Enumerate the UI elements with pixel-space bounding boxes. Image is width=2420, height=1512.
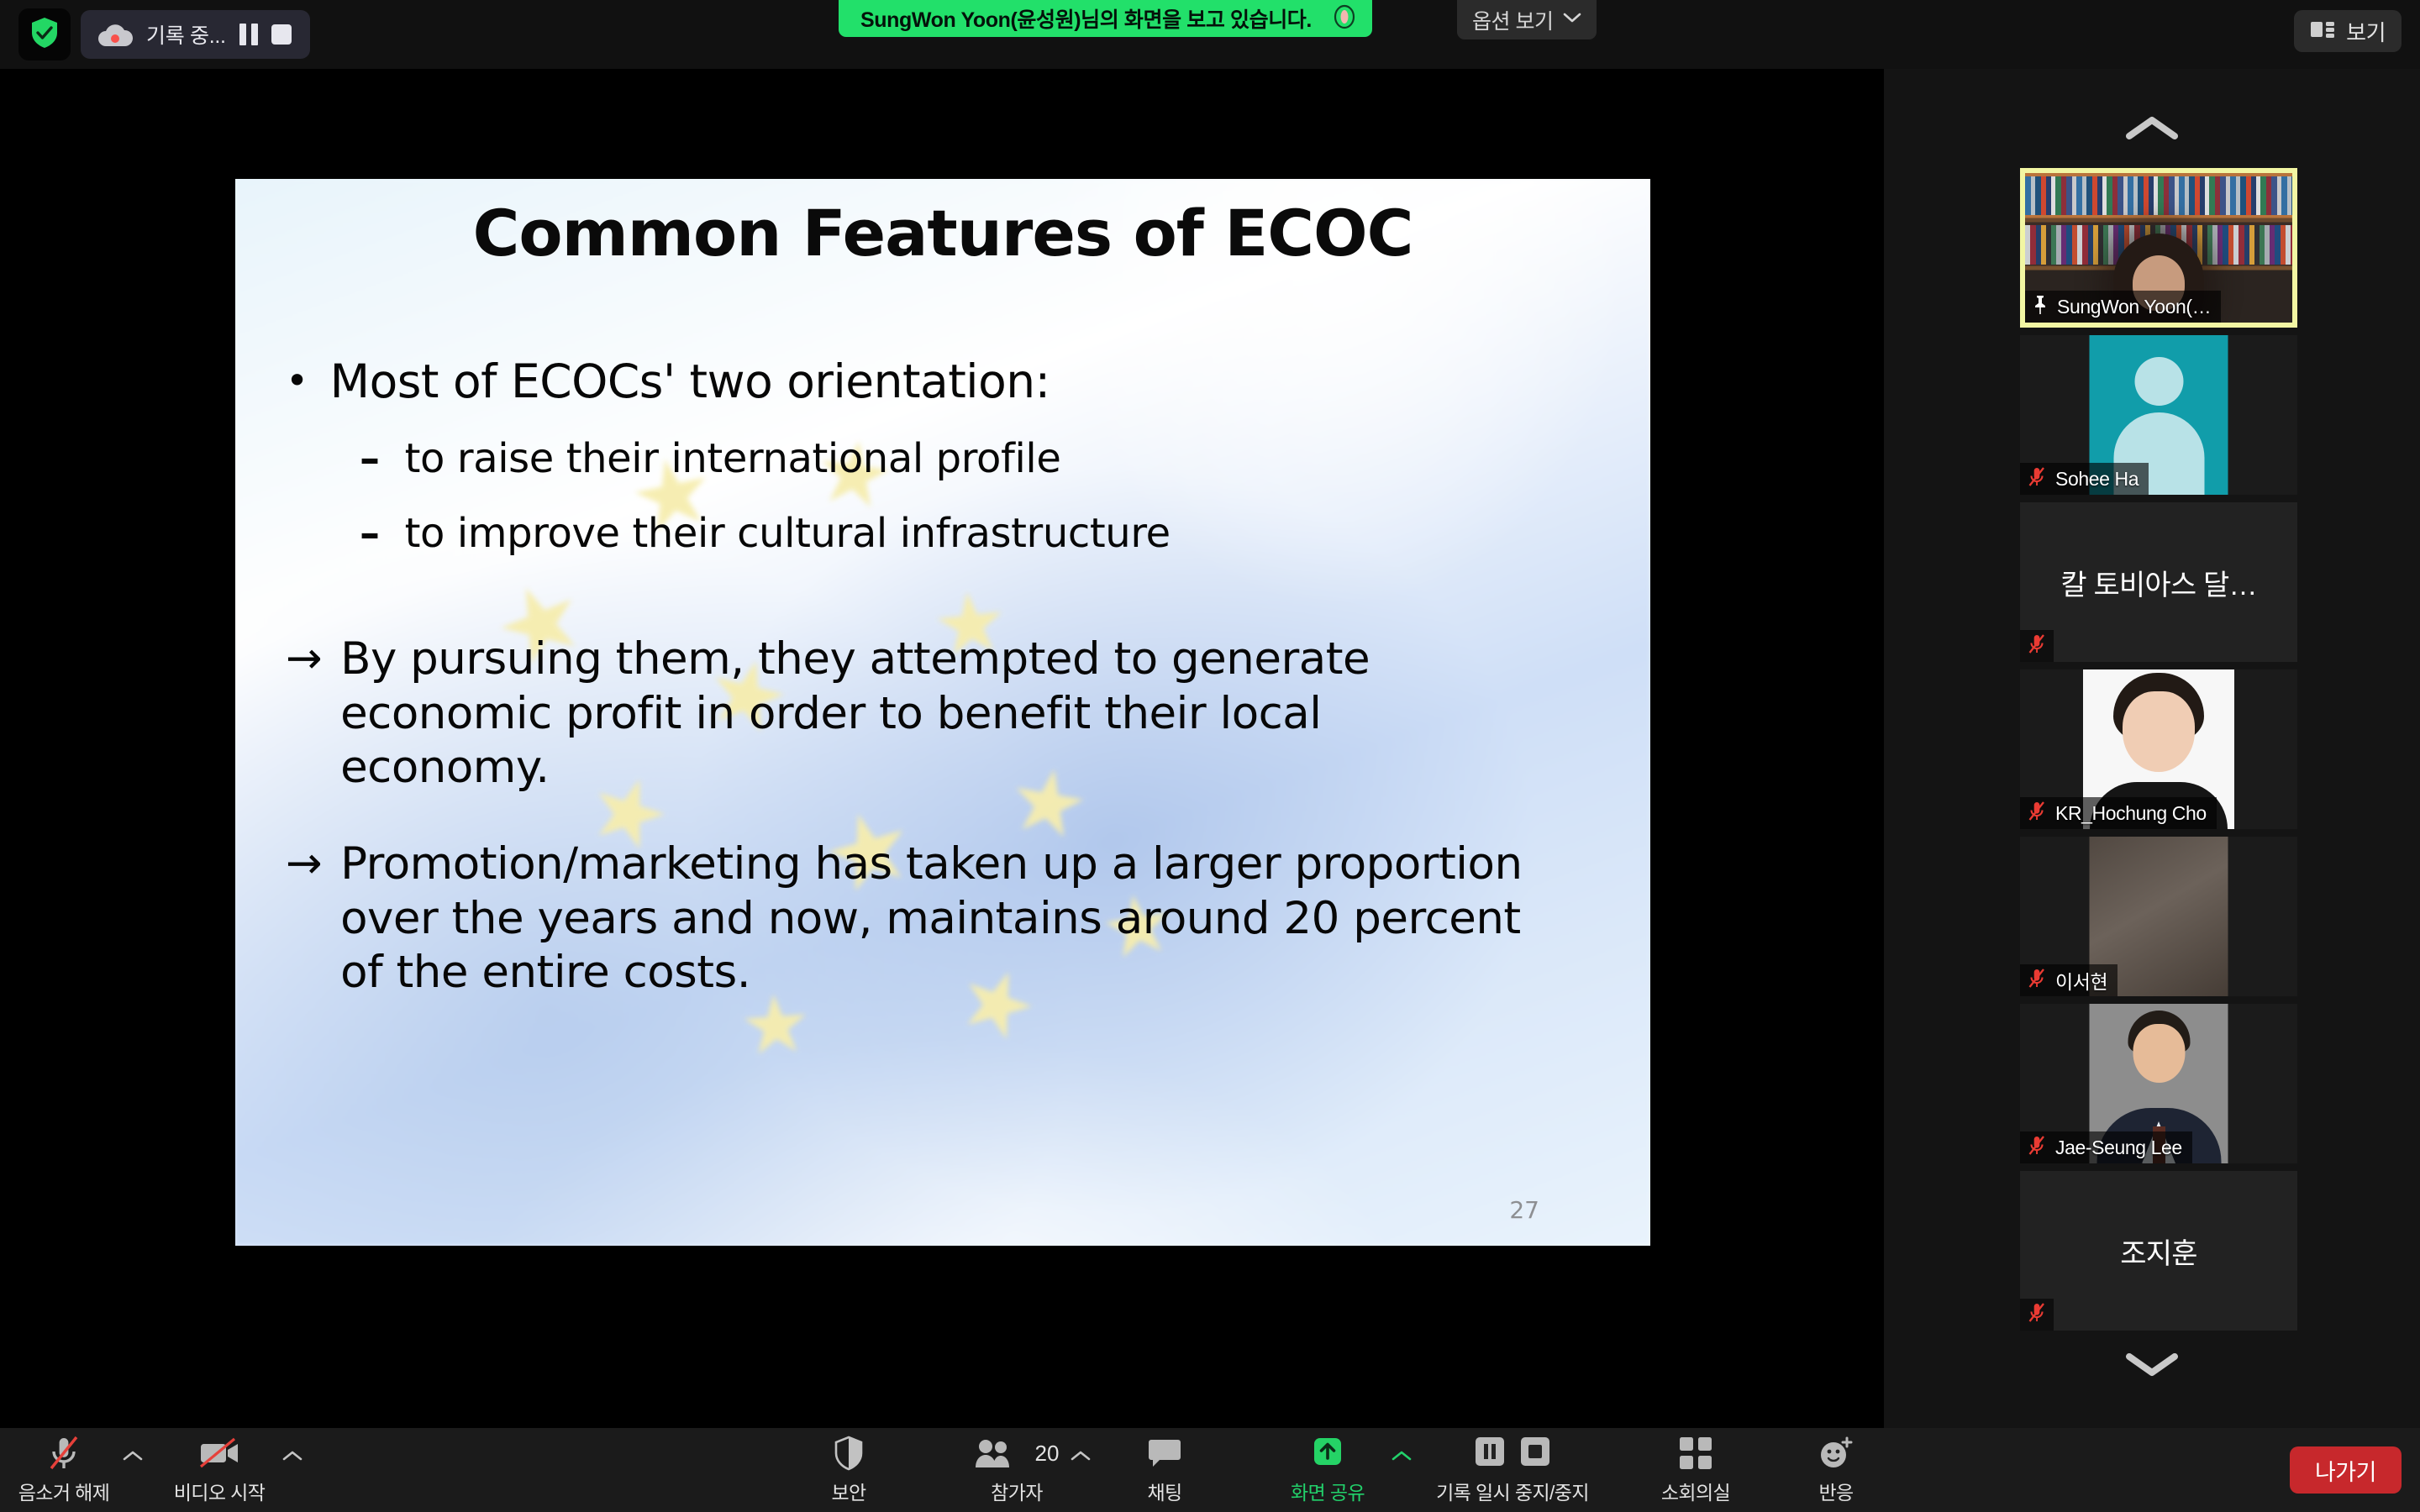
- participants-button-label: 참가자: [991, 1477, 1043, 1505]
- chevron-up-icon: [1391, 1450, 1412, 1466]
- stop-icon[interactable]: [271, 24, 292, 45]
- mic-muted-icon: [2027, 1302, 2047, 1328]
- participant-filmstrip: SungWon Yoon(… Sohee Ha: [1884, 69, 2420, 1428]
- participant-name-badge: 이서현: [2020, 964, 2117, 996]
- shield-check-icon: [30, 17, 59, 53]
- participant-name: 이서현: [2055, 966, 2107, 995]
- slide-arrow-paragraph-text: Promotion/marketing has taken up a large…: [340, 837, 1534, 1000]
- participants-options-caret[interactable]: [1067, 1450, 1094, 1512]
- share-screen-button[interactable]: 화면 공유: [1274, 1435, 1381, 1509]
- participant-name: Sohee Ha: [2055, 468, 2139, 491]
- chat-button[interactable]: 채팅: [1128, 1435, 1202, 1509]
- slide-body: • Most of ECOCs' two orientation: – to r…: [286, 357, 1600, 1000]
- chevron-down-icon: [2126, 1352, 2178, 1381]
- participant-name: KR_Hochung Cho: [2055, 802, 2207, 825]
- people-icon: ​ 20: [975, 1435, 1060, 1472]
- slide-bullet-main-text: Most of ECOCs' two orientation:: [330, 357, 1050, 406]
- pin-icon: [2032, 295, 2049, 319]
- participant-name-badge: Sohee Ha: [2020, 463, 2149, 495]
- screen-share-banner: SungWon Yoon(윤성원)님의 화면을 보고 있습니다.: [839, 0, 1372, 37]
- participant-name-badge: SungWon Yoon(…: [2025, 291, 2221, 323]
- grid-squares-icon: [1679, 1435, 1712, 1472]
- layout-icon: [2310, 18, 2335, 45]
- participant-name-badge: Jae-Seung Lee: [2020, 1131, 2192, 1163]
- video-options-caret[interactable]: [279, 1450, 306, 1512]
- mic-muted-icon: [2027, 1135, 2047, 1161]
- chevron-up-icon: [123, 1450, 143, 1466]
- participant-tile-jojihun[interactable]: 조지훈: [2020, 1171, 2297, 1331]
- view-options-button[interactable]: 옵션 보기: [1457, 0, 1597, 39]
- participant-name: 조지훈: [2020, 1171, 2297, 1331]
- shared-screen-stage: ★ ★ ★ ★ ★ ★ ★ ★ ★ ★ ★ Common Features of…: [0, 69, 1884, 1428]
- security-button[interactable]: 보안: [813, 1435, 884, 1509]
- slide-arrow-paragraph: → Promotion/marketing has taken up a lar…: [286, 837, 1600, 1000]
- participant-tile-jae-seung-lee[interactable]: Jae-Seung Lee: [2020, 1004, 2297, 1163]
- chat-bubble-icon: [1148, 1435, 1181, 1472]
- participant-tile-sohee-ha[interactable]: Sohee Ha: [2020, 335, 2297, 495]
- slide-sub-bullet: – to improve their cultural infrastructu…: [360, 512, 1600, 555]
- breakout-rooms-button[interactable]: 소회의실: [1645, 1435, 1746, 1509]
- view-layout-label: 보기: [2346, 16, 2386, 47]
- pause-icon[interactable]: [239, 24, 258, 45]
- security-button-label: 보안: [831, 1477, 865, 1505]
- screen-share-banner-text: SungWon Yoon(윤성원)님의 화면을 보고 있습니다.: [860, 3, 1312, 34]
- dash-glyph: –: [360, 512, 380, 555]
- stop-icon: [1519, 1436, 1551, 1472]
- mic-muted-icon: [2027, 466, 2047, 492]
- leave-meeting-button[interactable]: 나가기: [2290, 1446, 2402, 1494]
- meeting-toolbar: 음소거 해제 비디오 시작: [0, 1428, 2420, 1512]
- participant-tile-sungwon-yoon[interactable]: SungWon Yoon(…: [2020, 168, 2297, 328]
- bullet-glyph: •: [286, 357, 308, 406]
- share-options-caret[interactable]: [1388, 1450, 1415, 1512]
- participants-button[interactable]: ​ 20 참가자: [958, 1435, 1076, 1509]
- chevron-up-icon: [1071, 1450, 1091, 1466]
- chevron-up-icon: [2126, 115, 2178, 144]
- view-options-label: 옵션 보기: [1472, 5, 1553, 35]
- participant-tile-kal-tobias[interactable]: 칼 토비아스 달…: [2020, 502, 2297, 662]
- view-layout-button[interactable]: 보기: [2294, 10, 2402, 52]
- arrow-glyph: →: [286, 633, 322, 795]
- participant-mute-badge: [2020, 630, 2054, 662]
- record-pause-stop-label: 기록 일시 중지/중지: [1436, 1477, 1589, 1505]
- participant-name: SungWon Yoon(…: [2057, 296, 2211, 318]
- mic-muted-icon: [2027, 801, 2047, 827]
- smiley-plus-icon: [1818, 1435, 1854, 1472]
- security-shield-button[interactable]: [18, 8, 71, 60]
- participant-name-badge: KR_Hochung Cho: [2020, 797, 2217, 829]
- mute-button[interactable]: 음소거 해제: [18, 1435, 109, 1509]
- recording-indicator[interactable]: 기록 중...: [81, 10, 310, 59]
- start-video-button-label: 비디오 시작: [174, 1477, 266, 1505]
- mic-muted-icon: [45, 1435, 82, 1472]
- dash-glyph: –: [360, 438, 380, 480]
- arrow-glyph: →: [286, 837, 322, 1000]
- reactions-button[interactable]: 반응: [1798, 1435, 1874, 1509]
- slide-arrow-paragraph-text: By pursuing them, they attempted to gene…: [340, 633, 1534, 795]
- mute-button-label: 음소거 해제: [18, 1477, 110, 1505]
- recording-label: 기록 중...: [146, 19, 226, 50]
- chevron-up-icon: [282, 1450, 302, 1466]
- slide-sub-bullet-text: to raise their international profile: [405, 438, 1061, 480]
- share-indicator-icon: [1330, 3, 1359, 35]
- participant-tile-kr-hochung-cho[interactable]: KR_Hochung Cho: [2020, 669, 2297, 829]
- audio-options-caret[interactable]: [119, 1450, 146, 1512]
- share-screen-button-label: 화면 공유: [1291, 1477, 1365, 1505]
- record-pause-stop-button[interactable]: 기록 일시 중지/중지: [1428, 1435, 1597, 1509]
- participants-count: 20: [1035, 1441, 1060, 1467]
- chat-button-label: 채팅: [1147, 1477, 1181, 1505]
- slide-arrow-paragraph: → By pursuing them, they attempted to ge…: [286, 633, 1600, 795]
- pause-icon: [1474, 1436, 1506, 1472]
- slide-page-number: 27: [1509, 1196, 1539, 1224]
- mic-muted-icon: [2027, 968, 2047, 994]
- leave-meeting-label: 나가기: [2315, 1454, 2376, 1487]
- slide-sub-bullet: – to raise their international profile: [360, 438, 1600, 480]
- slide-title: Common Features of ECOC: [235, 196, 1650, 270]
- participant-name: Jae-Seung Lee: [2055, 1137, 2182, 1159]
- filmstrip-scroll-down-button[interactable]: [2114, 1344, 2190, 1388]
- start-video-button[interactable]: 비디오 시작: [171, 1435, 267, 1509]
- participant-tile-leeseohyun[interactable]: 이서현: [2020, 837, 2297, 996]
- top-bar: 기록 중... SungWon Yoon(윤성원)님의 화면을 보고 있습니다.…: [0, 0, 2420, 69]
- breakout-rooms-label: 소회의실: [1661, 1477, 1730, 1505]
- mic-muted-icon: [2027, 633, 2047, 659]
- slide-sub-bullet-text: to improve their cultural infrastructure: [405, 512, 1171, 555]
- filmstrip-scroll-up-button[interactable]: [2114, 108, 2190, 151]
- slide-bullet-main: • Most of ECOCs' two orientation:: [286, 357, 1600, 406]
- participant-mute-badge: [2020, 1299, 2054, 1331]
- chevron-down-icon: [1563, 12, 1581, 28]
- cloud-recording-icon: [96, 22, 133, 47]
- participant-tile-list: SungWon Yoon(… Sohee Ha: [2020, 168, 2297, 1338]
- presentation-slide: ★ ★ ★ ★ ★ ★ ★ ★ ★ ★ ★ Common Features of…: [235, 179, 1650, 1246]
- video-off-icon: [197, 1435, 241, 1472]
- participant-name: 칼 토비아스 달…: [2020, 502, 2297, 662]
- share-arrow-up-icon: [1308, 1435, 1347, 1472]
- zoom-meeting-window: 기록 중... SungWon Yoon(윤성원)님의 화면을 보고 있습니다.…: [0, 0, 2420, 1512]
- shield-icon: [834, 1435, 864, 1472]
- reactions-button-label: 반응: [1818, 1477, 1853, 1505]
